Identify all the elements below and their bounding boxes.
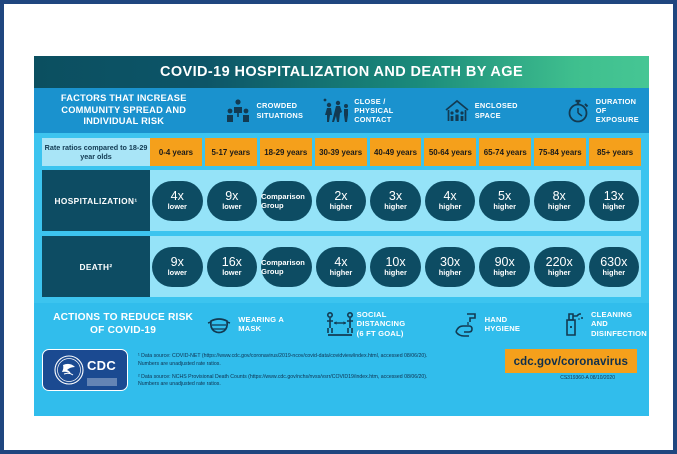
rate-cell: 4xhigher	[425, 170, 476, 231]
rate-cell: Comparison Group	[261, 236, 312, 297]
death-cells: 9xlower 16xlower Comparison Group 4xhigh…	[150, 236, 641, 297]
rate-cell: Comparison Group	[261, 170, 312, 231]
rate-pill: 630xhigher	[589, 247, 640, 287]
age-group-cell: 30-39 years	[315, 138, 367, 166]
death-label: DEATH²	[42, 236, 150, 297]
rate-cell: 10xhigher	[370, 236, 421, 297]
screenshot-page: COVID-19 HOSPITALIZATION AND DEATH BY AG…	[0, 0, 677, 454]
crowd-icon	[225, 97, 251, 125]
rate-pill: 4xhigher	[316, 247, 367, 287]
footnotes: ¹ Data source: COVID-NET (https://www.cd…	[138, 349, 438, 394]
rate-pill: 9xlower	[207, 181, 258, 221]
publication-id-code: CS319360-A 08/10/2020	[560, 375, 615, 381]
rate-cell: 8xhigher	[534, 170, 585, 231]
age-group-header-row: Rate ratios compared to 18-29 year olds …	[42, 138, 641, 166]
rate-cell: 4xhigher	[316, 236, 367, 297]
rate-cell: 90xhigher	[479, 236, 530, 297]
rate-pill: 16xlower	[207, 247, 258, 287]
hospitalization-row: HOSPITALIZATION¹ 4xlower 9xlower Compari…	[42, 170, 641, 231]
covid-infographic: COVID-19 HOSPITALIZATION AND DEATH BY AG…	[34, 56, 649, 416]
infographic-footer: CDC ¹ Data source: COVID-NET (https://ww…	[34, 345, 649, 416]
page-title: COVID-19 HOSPITALIZATION AND DEATH BY AG…	[160, 64, 523, 80]
rate-cell: 3xhigher	[370, 170, 421, 231]
action-hand-hygiene: HAND HYGIENE	[453, 310, 543, 338]
hospitalization-label: HOSPITALIZATION¹	[42, 170, 150, 231]
rate-cell: 13xhigher	[589, 170, 640, 231]
footnote-2: ² Data source: NCHS Provisional Death Co…	[138, 374, 438, 390]
handwash-icon	[453, 310, 479, 338]
footnote-1: ¹ Data source: COVID-NET (https://www.cd…	[138, 353, 438, 369]
rate-pill: 4xlower	[152, 181, 203, 221]
cdc-url-text: cdc.gov/coronavirus	[514, 356, 628, 368]
house-people-icon	[444, 97, 470, 125]
action-label: SOCIAL DISTANCING (6 FT GOAL)	[357, 310, 435, 338]
rate-pill: 5xhigher	[479, 181, 530, 221]
age-group-cell: 0-4 years	[150, 138, 202, 166]
death-row: DEATH² 9xlower 16xlower Comparison Group…	[42, 236, 641, 297]
action-cleaning-and-disinfection: CLEANING AND DISINFECTION	[559, 310, 649, 338]
factors-band: FACTORS THAT INCREASE COMMUNITY SPREAD A…	[34, 88, 649, 133]
row-label-text: HOSPITALIZATION¹	[54, 196, 137, 206]
row-label-text: DEATH²	[79, 262, 112, 272]
rate-pill: 10xhigher	[370, 247, 421, 287]
face-mask-icon	[206, 310, 232, 338]
rate-pill: 220xhigher	[534, 247, 585, 287]
rate-cell: 2xhigher	[316, 170, 367, 231]
rate-cell: 30xhigher	[425, 236, 476, 297]
rate-pill: 9xlower	[152, 247, 203, 287]
social-distance-icon	[325, 310, 351, 338]
factor-label: CLOSE / PHYSICAL CONTACT	[354, 97, 424, 125]
factor-close-physical-contact: CLOSE / PHYSICAL CONTACT	[323, 97, 424, 125]
factor-duration-of-exposure: DURATION OF EXPOSURE	[565, 97, 649, 125]
rate-pill: 90xhigher	[479, 247, 530, 287]
rate-cell: 9xlower	[207, 170, 258, 231]
rate-cell: 5xhigher	[479, 170, 530, 231]
age-group-cell: 40-49 years	[370, 138, 422, 166]
comparison-group-pill: Comparison Group	[261, 181, 312, 221]
actions-heading: ACTIONS TO REDUCE RISK OF COVID-19	[34, 311, 198, 338]
age-group-cells: 0-4 years 5-17 years 18-29 years 30-39 y…	[150, 138, 641, 166]
factors-heading: FACTORS THAT INCREASE COMMUNITY SPREAD A…	[34, 93, 203, 128]
age-group-cell: 50-64 years	[424, 138, 476, 166]
rate-pill: 13xhigher	[589, 181, 640, 221]
dancing-people-icon	[323, 97, 349, 125]
comparison-group-pill: Comparison Group	[261, 247, 312, 287]
action-wearing-a-mask: WEARING A MASK	[206, 310, 306, 338]
factor-label: ENCLOSED SPACE	[475, 101, 543, 120]
rate-cell: 9xlower	[152, 236, 203, 297]
action-label: HAND HYGIENE	[485, 315, 543, 334]
rate-cell: 16xlower	[207, 236, 258, 297]
rate-cell: 4xlower	[152, 170, 203, 231]
age-group-cell: 85+ years	[589, 138, 641, 166]
age-group-cell: 5-17 years	[205, 138, 257, 166]
infographic-title-bar: COVID-19 HOSPITALIZATION AND DEATH BY AG…	[34, 56, 649, 88]
rate-ratio-table: Rate ratios compared to 18-29 year olds …	[34, 133, 649, 302]
cdc-wordmark: CDC	[87, 359, 117, 381]
rate-cell: 220xhigher	[534, 236, 585, 297]
cdc-underline-icon	[87, 373, 117, 381]
stopwatch-icon	[565, 97, 591, 125]
actions-band: ACTIONS TO REDUCE RISK OF COVID-19 WEARI…	[34, 303, 649, 345]
rate-ratio-label: Rate ratios compared to 18-29 year olds	[42, 138, 150, 166]
spray-bottle-icon	[559, 310, 585, 338]
action-label: CLEANING AND DISINFECTION	[591, 310, 649, 338]
rate-pill: 2xhigher	[316, 181, 367, 221]
age-group-cell: 75-84 years	[534, 138, 586, 166]
factor-crowded-situations: CROWDED SITUATIONS	[225, 97, 303, 125]
hhs-seal-icon	[54, 355, 84, 385]
factor-label: CROWDED SITUATIONS	[256, 101, 303, 120]
factor-enclosed-space: ENCLOSED SPACE	[444, 97, 543, 125]
rate-cell: 630xhigher	[589, 236, 640, 297]
rate-pill: 4xhigher	[425, 181, 476, 221]
age-group-cell: 65-74 years	[479, 138, 531, 166]
cdc-url-banner[interactable]: cdc.gov/coronavirus	[505, 349, 637, 373]
hospitalization-cells: 4xlower 9xlower Comparison Group 2xhighe…	[150, 170, 641, 231]
age-group-cell: 18-29 years	[260, 138, 312, 166]
rate-pill: 3xhigher	[370, 181, 421, 221]
action-label: WEARING A MASK	[238, 315, 306, 334]
rate-pill: 8xhigher	[534, 181, 585, 221]
rate-pill: 30xhigher	[425, 247, 476, 287]
factor-label: DURATION OF EXPOSURE	[596, 97, 649, 125]
action-social-distancing: SOCIAL DISTANCING (6 FT GOAL)	[325, 310, 435, 338]
cdc-logo: CDC	[42, 349, 128, 391]
